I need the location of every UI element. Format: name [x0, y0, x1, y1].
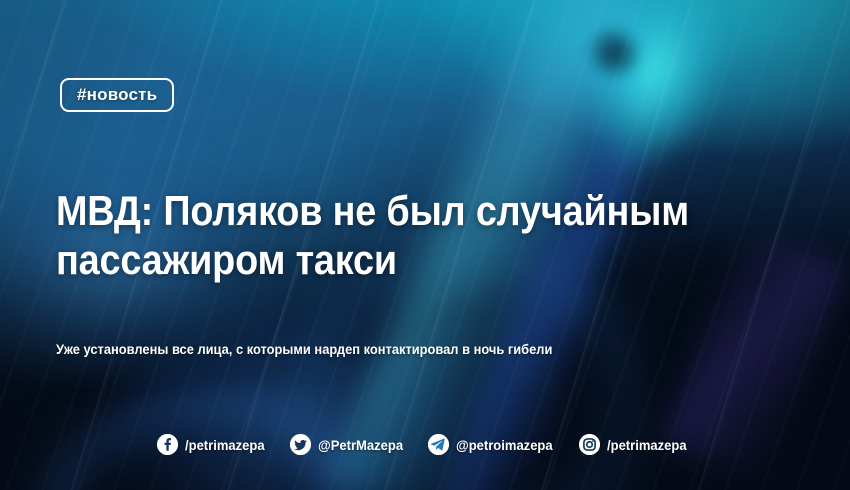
social-link-instagram[interactable]: /petrimazepa — [579, 434, 693, 455]
facebook-icon[interactable] — [157, 434, 178, 455]
social-link-telegram[interactable]: @petroimazepa — [428, 434, 560, 455]
instagram-icon[interactable] — [579, 434, 600, 455]
social-handle: @PetrMazepa — [318, 437, 403, 453]
twitter-icon[interactable] — [290, 434, 311, 455]
social-handle: @petroimazepa — [456, 437, 553, 453]
card-content: #новость МВД: Поляков не был случайным п… — [0, 0, 850, 490]
social-handle: /petrimazepa — [185, 437, 265, 453]
subtitle: Уже установлены все лица, с которыми нар… — [56, 341, 737, 357]
social-link-twitter[interactable]: @PetrMazepa — [290, 434, 409, 455]
news-card: #новость МВД: Поляков не был случайным п… — [0, 0, 850, 490]
social-links-bar: /petrimazepa @PetrMazepa — [0, 434, 850, 455]
social-link-facebook[interactable]: /petrimazepa — [157, 434, 271, 455]
telegram-icon[interactable] — [428, 434, 449, 455]
category-badge[interactable]: #новость — [60, 78, 174, 112]
social-handle: /petrimazepa — [607, 437, 687, 453]
headline: МВД: Поляков не был случайным пассажиром… — [56, 186, 713, 284]
